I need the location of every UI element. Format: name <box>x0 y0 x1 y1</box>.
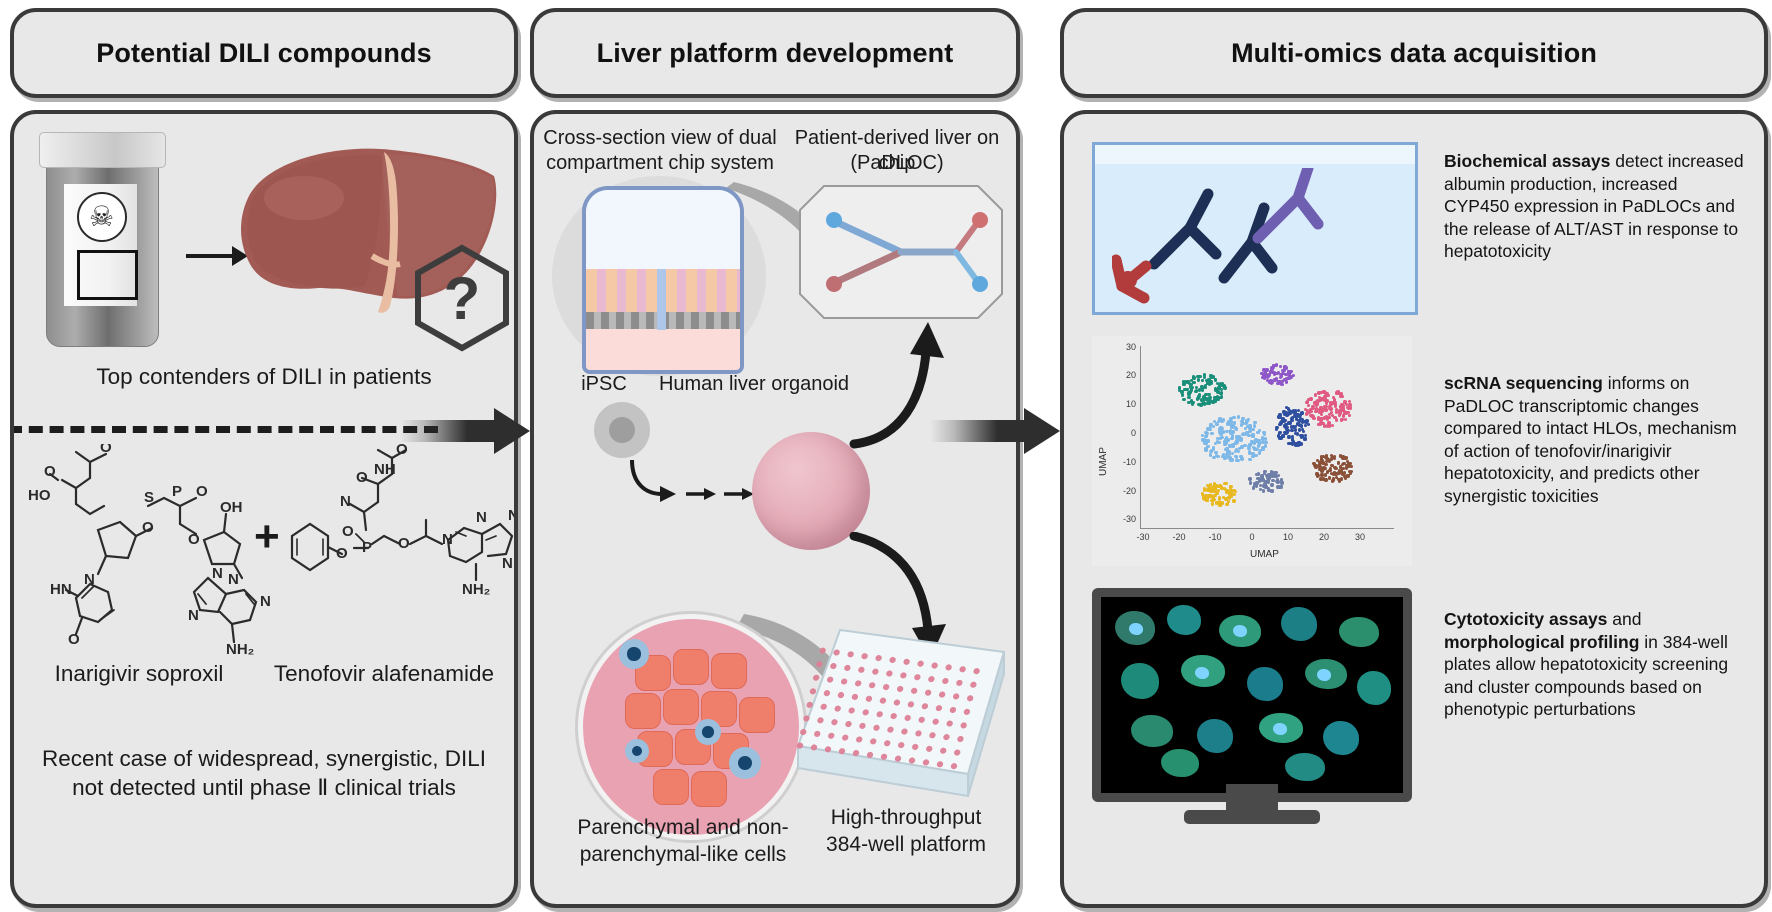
label-ipsc: iPSC <box>564 372 644 397</box>
chip-vertical-channel <box>657 269 666 330</box>
umap-point <box>1196 398 1199 401</box>
umap-point <box>1331 479 1334 482</box>
umap-point <box>1307 398 1310 401</box>
umap-point <box>1312 417 1315 420</box>
umap-point <box>1349 472 1352 475</box>
umap-point <box>1266 476 1269 479</box>
umap-point <box>1302 430 1305 433</box>
mol-label-O-3: O <box>196 483 208 500</box>
umap-point <box>1258 442 1261 445</box>
umap-point <box>1248 426 1251 429</box>
cell-nucleus <box>1195 667 1209 679</box>
umap-point <box>1254 482 1257 485</box>
mol-label-N-4: N <box>260 593 271 610</box>
umap-point <box>1301 434 1304 437</box>
non-parenchymal-cell <box>695 719 721 745</box>
mol-label-O-4: O <box>142 519 154 536</box>
label-xsec-line1: Cross-section view of dual <box>540 126 780 151</box>
umap-point <box>1277 380 1280 383</box>
umap-point <box>1263 433 1266 436</box>
biochemical-assay-illustration <box>1092 142 1412 312</box>
umap-point <box>1324 473 1327 476</box>
umap-point <box>1264 444 1267 447</box>
umap-point <box>1271 489 1274 492</box>
cell-image-blob <box>1281 607 1317 641</box>
umap-point <box>1325 399 1328 402</box>
umap-point <box>1348 414 1351 417</box>
umap-point <box>1209 453 1212 456</box>
panel-body-multiomics: Biochemical assays detect increased albu… <box>1060 110 1768 908</box>
umap-point <box>1304 434 1307 437</box>
caption-recent-case-line1: Recent case of widespread, synergistic, … <box>14 744 514 773</box>
umap-point <box>1204 386 1207 389</box>
umap-point <box>1330 457 1333 460</box>
umap-point <box>1210 375 1213 378</box>
text-block-cytotoxicity: Cytotoxicity assays and morphological pr… <box>1444 608 1744 721</box>
cell-nucleus <box>1273 723 1287 735</box>
hepatocyte <box>711 653 747 689</box>
text-block-cytotoxicity-bold-b: morphological profiling <box>1444 632 1639 652</box>
cell-nucleus <box>1317 669 1331 681</box>
umap-point <box>1204 447 1207 450</box>
umap-point <box>1234 490 1237 493</box>
umap-point <box>1281 434 1284 437</box>
transition-arrow-2-head <box>1024 408 1060 454</box>
umap-point <box>1225 482 1228 485</box>
cell-culture-dish <box>578 614 804 840</box>
umap-point <box>1231 445 1234 448</box>
umap-point <box>1178 386 1181 389</box>
mol2-label-N-4: N <box>508 507 518 524</box>
umap-point <box>1280 481 1283 484</box>
mol-label-O-2: O <box>100 444 112 456</box>
umap-point <box>1256 477 1259 480</box>
umap-point <box>1324 463 1327 466</box>
umap-point <box>1217 489 1220 492</box>
umap-point <box>1290 419 1293 422</box>
umap-point <box>1211 502 1214 505</box>
caption-tenofovir: Tenofovir alafenamide <box>264 659 504 688</box>
umap-point <box>1283 367 1286 370</box>
label-xsec-line2: compartment chip system <box>540 151 780 176</box>
label-padloc-line2: (PaDLOC) <box>782 151 1012 176</box>
text-block-cytotoxicity-mid: and <box>1607 609 1641 629</box>
umap-point <box>1192 381 1195 384</box>
cell-image-blob <box>1167 605 1201 635</box>
panel-header-3: Multi-omics data acquisition <box>1060 8 1768 98</box>
umap-point <box>1209 490 1212 493</box>
mol2-label-NH: NH <box>374 461 396 478</box>
mol-label-OH: OH <box>220 499 243 516</box>
umap-point <box>1230 458 1233 461</box>
mol2-label-N-3: N <box>476 509 487 526</box>
umap-point <box>1279 485 1282 488</box>
text-block-biochemical: Biochemical assays detect increased albu… <box>1444 150 1744 263</box>
caption-inarigivir: Inarigivir soproxil <box>24 659 254 688</box>
umap-point <box>1184 388 1187 391</box>
umap-point <box>1248 443 1251 446</box>
label-organoid: Human liver organoid <box>644 372 864 397</box>
umap-point <box>1232 499 1235 502</box>
umap-point <box>1290 429 1293 432</box>
mol2-label-O-2: O <box>396 444 408 458</box>
question-hexagon-icon: ? <box>414 244 510 352</box>
umap-point <box>1296 413 1299 416</box>
hepatocyte <box>691 771 727 807</box>
caption-recent-case-line2: not detected until phase Ⅱ clinical tria… <box>14 773 514 802</box>
monitor-screen <box>1092 588 1412 802</box>
umap-point <box>1286 430 1289 433</box>
umap-point <box>1248 477 1251 480</box>
umap-point <box>1207 427 1210 430</box>
umap-point <box>1209 495 1212 498</box>
skull-crossbones-icon: ☠ <box>77 192 127 242</box>
umap-point <box>1271 381 1274 384</box>
umap-point <box>1275 480 1278 483</box>
umap-point <box>1331 424 1334 427</box>
umap-point <box>1279 365 1282 368</box>
transition-arrow-2-shaft <box>930 420 1026 442</box>
chip-cross-section <box>582 186 744 374</box>
umap-scatter-plot: UMAP UMAP 30 20 10 0 -10 -20 -30 -30 -20… <box>1092 336 1412 566</box>
umap-point <box>1281 417 1284 420</box>
umap-point <box>1231 452 1234 455</box>
umap-point <box>1238 447 1241 450</box>
cell-image-blob <box>1161 749 1199 777</box>
umap-point <box>1229 421 1232 424</box>
mol-label-O-1: O <box>44 463 56 480</box>
panel-header-3-title: Multi-omics data acquisition <box>1231 38 1597 69</box>
umap-point <box>1235 427 1238 430</box>
umap-point <box>1192 401 1195 404</box>
hepatocyte <box>663 689 699 725</box>
panel-body-platform: Cross-section view of dual compartment c… <box>530 110 1020 908</box>
umap-point <box>1187 380 1190 383</box>
umap-point <box>1323 424 1326 427</box>
cell-image-blob <box>1357 671 1391 705</box>
umap-point <box>1338 413 1341 416</box>
umap-point <box>1263 470 1266 473</box>
umap-point <box>1181 393 1184 396</box>
mol-label-N-2: N <box>212 565 223 582</box>
umap-point <box>1236 436 1239 439</box>
umap-point <box>1287 407 1290 410</box>
caption-plate-line1: High-throughput <box>806 804 1006 831</box>
umap-point <box>1202 438 1205 441</box>
umap-point <box>1241 419 1244 422</box>
cell-nucleus <box>1129 623 1143 635</box>
mol-label-N-5: N <box>188 607 199 624</box>
cell-image-blob <box>1197 719 1233 753</box>
ipsc-cell-icon <box>594 402 650 458</box>
umap-point <box>1190 388 1193 391</box>
non-parenchymal-cell <box>729 747 761 779</box>
transition-arrow-1-head <box>494 408 530 454</box>
panel-header-1: Potential DILI compounds <box>10 8 518 98</box>
mol-label-P: P <box>172 483 182 500</box>
umap-point <box>1261 448 1264 451</box>
umap-point <box>1240 423 1243 426</box>
mol-label-HO: HO <box>28 487 51 504</box>
umap-point <box>1318 465 1321 468</box>
umap-point <box>1285 413 1288 416</box>
monitor-stand-base <box>1184 810 1320 824</box>
umap-point <box>1300 424 1303 427</box>
hepatocyte <box>673 649 709 685</box>
umap-point <box>1346 474 1349 477</box>
umap-point <box>1260 474 1263 477</box>
umap-point <box>1233 421 1236 424</box>
umap-point <box>1289 375 1292 378</box>
umap-point <box>1316 402 1319 405</box>
umap-point <box>1341 467 1344 470</box>
umap-point <box>1343 400 1346 403</box>
umap-point <box>1257 439 1260 442</box>
mol-label-O-6: O <box>188 531 200 548</box>
umap-point <box>1264 482 1267 485</box>
mol2-label-NH2: NH₂ <box>462 581 490 598</box>
umap-point <box>1340 477 1343 480</box>
umap-point <box>1292 374 1295 377</box>
cell-image-blob <box>1131 715 1173 747</box>
umap-point <box>1319 477 1322 480</box>
umap-point <box>1270 483 1273 486</box>
panel1-dashed-divider <box>10 426 438 433</box>
umap-point <box>1285 380 1288 383</box>
text-block-cytotoxicity-bold-a: Cytotoxicity assays <box>1444 609 1607 629</box>
umap-point <box>1209 399 1212 402</box>
umap-point <box>1201 379 1204 382</box>
umap-point <box>1228 492 1231 495</box>
mol2-label-O-3: O <box>336 545 348 562</box>
text-block-scrna-bold: scRNA sequencing <box>1444 373 1603 393</box>
mol-label-S: S <box>144 489 154 506</box>
umap-point <box>1314 393 1317 396</box>
umap-point <box>1261 437 1264 440</box>
molecule-inarigivir-soproxil: HO O O S P O OH O N HN O N N N N NH₂ O <box>28 444 288 659</box>
umap-point <box>1236 459 1239 462</box>
panel-header-2-title: Liver platform development <box>597 38 954 69</box>
non-parenchymal-cell <box>625 739 649 763</box>
umap-point <box>1208 383 1211 386</box>
umap-point <box>1291 437 1294 440</box>
mol-label-N-3: N <box>228 571 239 588</box>
hepatocyte <box>739 697 775 733</box>
umap-point <box>1196 375 1199 378</box>
umap-point <box>1220 419 1223 422</box>
umap-point <box>1301 420 1304 423</box>
transition-arrow-1 <box>400 420 530 442</box>
non-parenchymal-cell <box>619 639 649 669</box>
umap-point <box>1239 438 1242 441</box>
cell-image-blob <box>1121 663 1159 699</box>
bottle-cap <box>39 132 166 168</box>
question-mark-glyph: ? <box>414 244 510 352</box>
caption-plate-line2: 384-well platform <box>806 831 1006 858</box>
umap-point <box>1219 431 1222 434</box>
chip-lower-compartment <box>586 329 740 370</box>
umap-point <box>1329 467 1332 470</box>
umap-point <box>1241 433 1244 436</box>
bottle-label-box <box>77 250 138 300</box>
umap-point <box>1321 468 1324 471</box>
umap-point <box>1320 397 1323 400</box>
umap-point <box>1271 371 1274 374</box>
umap-point <box>1214 379 1217 382</box>
umap-point <box>1227 500 1230 503</box>
umap-point <box>1182 398 1185 401</box>
umap-point <box>1325 392 1328 395</box>
umap-point <box>1258 429 1261 432</box>
umap-point <box>1215 454 1218 457</box>
umap-point <box>1223 443 1226 446</box>
umap-point <box>1310 410 1313 413</box>
hepatocyte <box>625 693 661 729</box>
umap-point <box>1213 396 1216 399</box>
cell-image-blob <box>1247 667 1283 701</box>
umap-point <box>1274 364 1277 367</box>
antibody-icons <box>1112 168 1392 308</box>
mol-label-O-5: O <box>68 631 80 648</box>
mol-label-N-1: N <box>84 571 95 588</box>
caption-dish-line1: Parenchymal and non- <box>558 814 808 841</box>
umap-point <box>1225 503 1228 506</box>
umap-point <box>1248 430 1251 433</box>
umap-point <box>1290 425 1293 428</box>
cell-nucleus <box>1233 625 1247 637</box>
umap-point <box>1341 473 1344 476</box>
umap-point <box>1295 417 1298 420</box>
umap-point <box>1220 388 1223 391</box>
panel-header-1-title: Potential DILI compounds <box>96 38 431 69</box>
umap-point <box>1210 432 1213 435</box>
mol-label-NH2: NH₂ <box>226 641 254 658</box>
umap-point <box>1248 458 1251 461</box>
arrow-bottle-to-liver <box>186 254 236 258</box>
mol2-label-O-5: O <box>398 535 410 552</box>
umap-point <box>1339 454 1342 457</box>
umap-point <box>1337 461 1340 464</box>
umap-point <box>1223 487 1226 490</box>
umap-point-layer <box>1092 336 1412 566</box>
umap-point <box>1303 437 1306 440</box>
cell-image-blob <box>1323 721 1359 755</box>
umap-point <box>1341 404 1344 407</box>
umap-point <box>1249 482 1252 485</box>
umap-point <box>1237 415 1240 418</box>
plate-384-well <box>782 624 1008 824</box>
umap-point <box>1331 414 1334 417</box>
umap-point <box>1338 410 1341 413</box>
umap-point <box>1285 377 1288 380</box>
plus-sign: + <box>254 512 280 562</box>
umap-point <box>1205 434 1208 437</box>
transition-arrow-2 <box>930 420 1060 442</box>
molecule-tenofovir-alafenamide: O O N O P NH O O N N N N NH₂ <box>280 444 518 659</box>
umap-point <box>1247 418 1250 421</box>
umap-point <box>1231 430 1234 433</box>
umap-point <box>1257 472 1260 475</box>
umap-point <box>1344 418 1347 421</box>
umap-point <box>1253 441 1256 444</box>
mol2-label-N: N <box>340 493 351 510</box>
figure-root: Potential DILI compounds Liver platform … <box>0 0 1772 912</box>
umap-point <box>1307 423 1310 426</box>
umap-point <box>1251 433 1254 436</box>
mol-label-HN: HN <box>50 581 72 598</box>
hepatocyte <box>653 769 689 805</box>
caption-dish-line2: parenchymal-like cells <box>558 841 808 868</box>
umap-point <box>1224 448 1227 451</box>
umap-point <box>1321 473 1324 476</box>
microscopy-monitor <box>1092 588 1412 802</box>
caption-top-contenders: Top contenders of DILI in patients <box>14 362 514 391</box>
transition-arrow-1-shaft <box>400 420 496 442</box>
umap-point <box>1324 478 1327 481</box>
umap-point <box>1347 406 1350 409</box>
mol2-label-N-5: N <box>502 555 513 572</box>
umap-point <box>1339 395 1342 398</box>
umap-point <box>1333 457 1336 460</box>
umap-point <box>1230 437 1233 440</box>
umap-point <box>1319 422 1322 425</box>
panel-header-2: Liver platform development <box>530 8 1020 98</box>
umap-point <box>1220 383 1223 386</box>
cell-image-blob <box>1339 617 1379 647</box>
panel-body-compounds: ☠ ? Top contenders of DILI in patients <box>10 110 518 908</box>
umap-point <box>1262 489 1265 492</box>
mol2-label-O-1: O <box>356 469 368 486</box>
mol2-label-N-2: N <box>442 531 453 548</box>
pill-bottle-icon: ☠ <box>39 132 164 347</box>
chip-lumen <box>586 190 740 269</box>
padloc-chip <box>796 182 1006 322</box>
mol2-label-P: P <box>362 539 372 556</box>
umap-point <box>1253 447 1256 450</box>
mol2-label-O-4: O <box>342 523 354 540</box>
umap-point <box>1294 442 1297 445</box>
text-block-biochemical-bold: Biochemical assays <box>1444 151 1610 171</box>
umap-point <box>1307 404 1310 407</box>
cell-image-blob <box>1285 753 1325 781</box>
text-block-scrna: scRNA sequencing informs on PaDLOC trans… <box>1444 372 1744 507</box>
umap-point <box>1203 441 1206 444</box>
umap-point <box>1197 378 1200 381</box>
umap-point <box>1260 372 1263 375</box>
umap-point <box>1218 504 1221 507</box>
umap-point <box>1331 401 1334 404</box>
umap-point <box>1321 461 1324 464</box>
umap-point <box>1296 432 1299 435</box>
umap-point <box>1267 373 1270 376</box>
umap-point <box>1253 424 1256 427</box>
umap-point <box>1219 396 1222 399</box>
